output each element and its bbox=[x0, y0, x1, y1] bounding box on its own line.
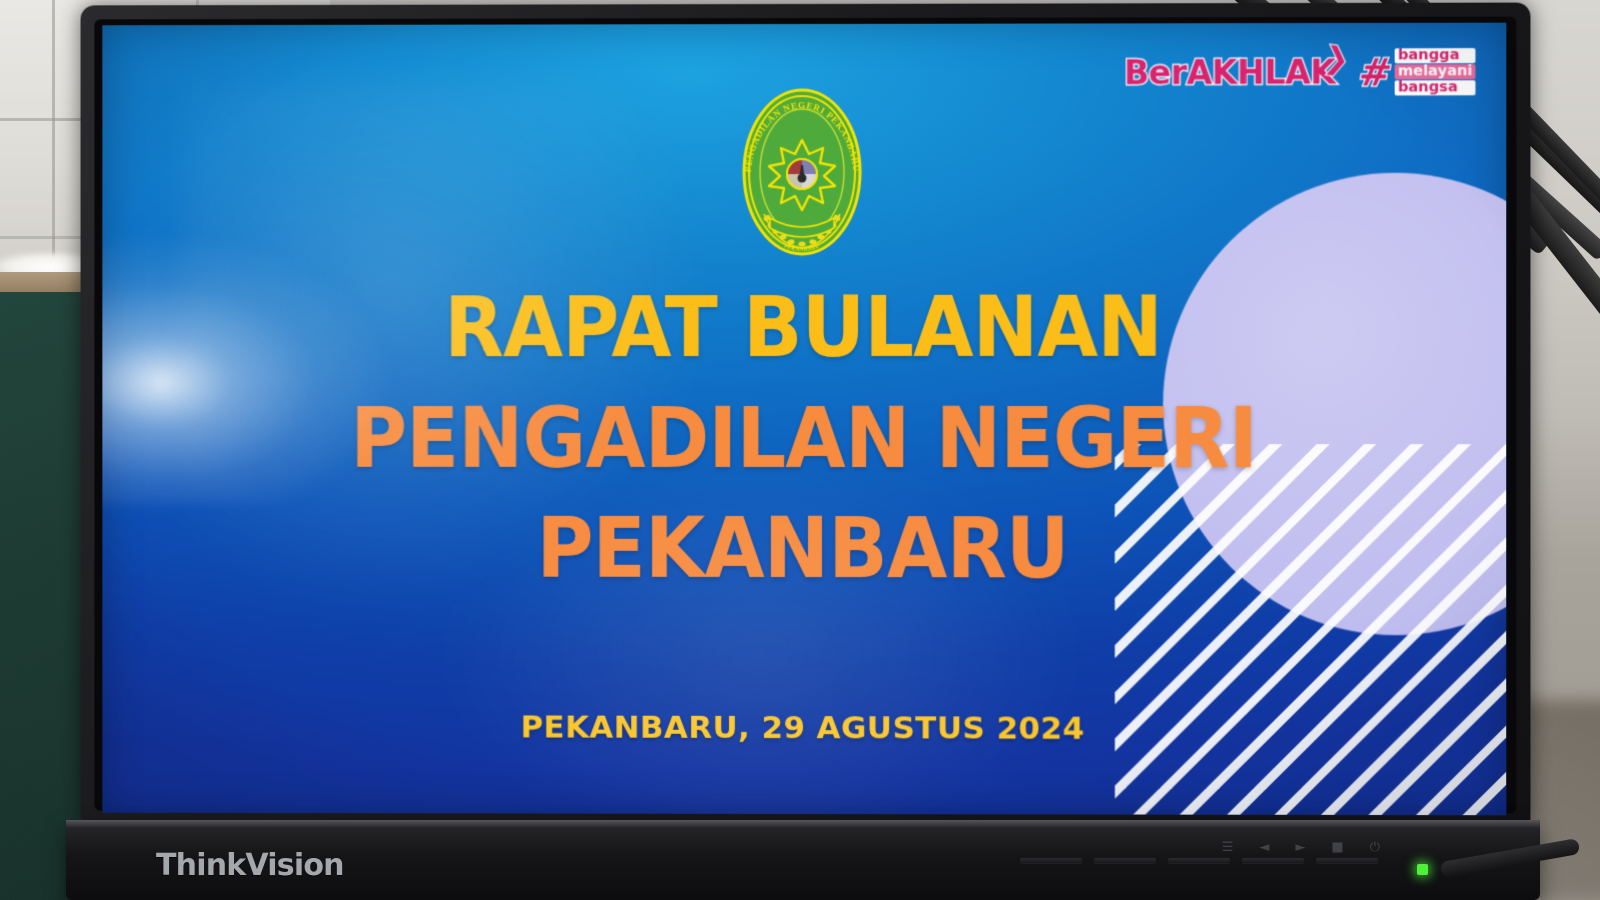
osd-glyph: ☰ bbox=[1222, 840, 1234, 855]
osd-glyph: ■ bbox=[1331, 840, 1343, 855]
power-button[interactable] bbox=[1316, 858, 1378, 863]
osd-left-button[interactable] bbox=[1094, 858, 1156, 863]
osd-glyph: ◄ bbox=[1259, 840, 1269, 855]
title-line-3: PEKANBARU bbox=[153, 505, 1459, 593]
berakhlak-logo: BerAKHLAK ❯ # bangga melayani bangsa bbox=[1124, 48, 1476, 96]
slide-title-block: RAPAT BULANAN PENGADILAN NEGERI PEKANBAR… bbox=[104, 283, 1506, 592]
brand-logo: ThinkVision bbox=[156, 848, 344, 883]
presentation-slide: BerAKHLAK ❯ # bangga melayani bangsa bbox=[104, 23, 1506, 816]
power-led-indicator bbox=[1417, 864, 1428, 875]
osd-menu-button[interactable] bbox=[1020, 858, 1082, 863]
tagline-line-3: bangsa bbox=[1395, 80, 1476, 95]
title-line-2: PENGADILAN NEGERI bbox=[153, 394, 1459, 481]
osd-exit-button[interactable] bbox=[1242, 858, 1304, 863]
bangga-melayani-bangsa-logo: # bangga melayani bangsa bbox=[1360, 48, 1476, 96]
berakhlak-text: BerAKHLAK bbox=[1124, 53, 1336, 93]
tagline-line-2: melayani bbox=[1395, 64, 1476, 79]
tagline-line-1: bangga bbox=[1395, 48, 1476, 63]
court-seal-emblem: PENGADILAN NEGERI PEKANBARU bbox=[736, 78, 868, 266]
monitor-screen: BerAKHLAK ❯ # bangga melayani bangsa bbox=[102, 23, 1506, 816]
osd-button-row[interactable] bbox=[1020, 858, 1378, 863]
chin-highlight bbox=[66, 820, 1540, 827]
title-line-1: RAPAT BULANAN bbox=[153, 283, 1459, 370]
osd-glyph: ⏻ bbox=[1370, 840, 1380, 855]
osd-glyph: ► bbox=[1295, 840, 1305, 855]
thinkvision-monitor: BerAKHLAK ❯ # bangga melayani bangsa bbox=[78, 0, 1528, 900]
tagline-block: bangga melayani bangsa bbox=[1395, 48, 1476, 96]
monitor-chin: ThinkVision ☰ ◄ ► ■ ⏻ bbox=[66, 820, 1540, 900]
osd-glyph-row: ☰ ◄ ► ■ ⏻ bbox=[1222, 840, 1380, 855]
monitor-bezel: BerAKHLAK ❯ # bangga melayani bangsa bbox=[81, 3, 1531, 824]
osd-right-button[interactable] bbox=[1168, 858, 1230, 863]
berakhlak-wordmark: BerAKHLAK ❯ bbox=[1124, 56, 1336, 90]
chevron-icon: ❯ bbox=[1322, 43, 1351, 76]
photo-scene: BerAKHLAK ❯ # bangga melayani bangsa bbox=[0, 0, 1600, 900]
hash-icon: # bbox=[1356, 53, 1395, 91]
slide-subtitle: PEKANBARU, 29 AGUSTUS 2024 bbox=[104, 708, 1506, 748]
